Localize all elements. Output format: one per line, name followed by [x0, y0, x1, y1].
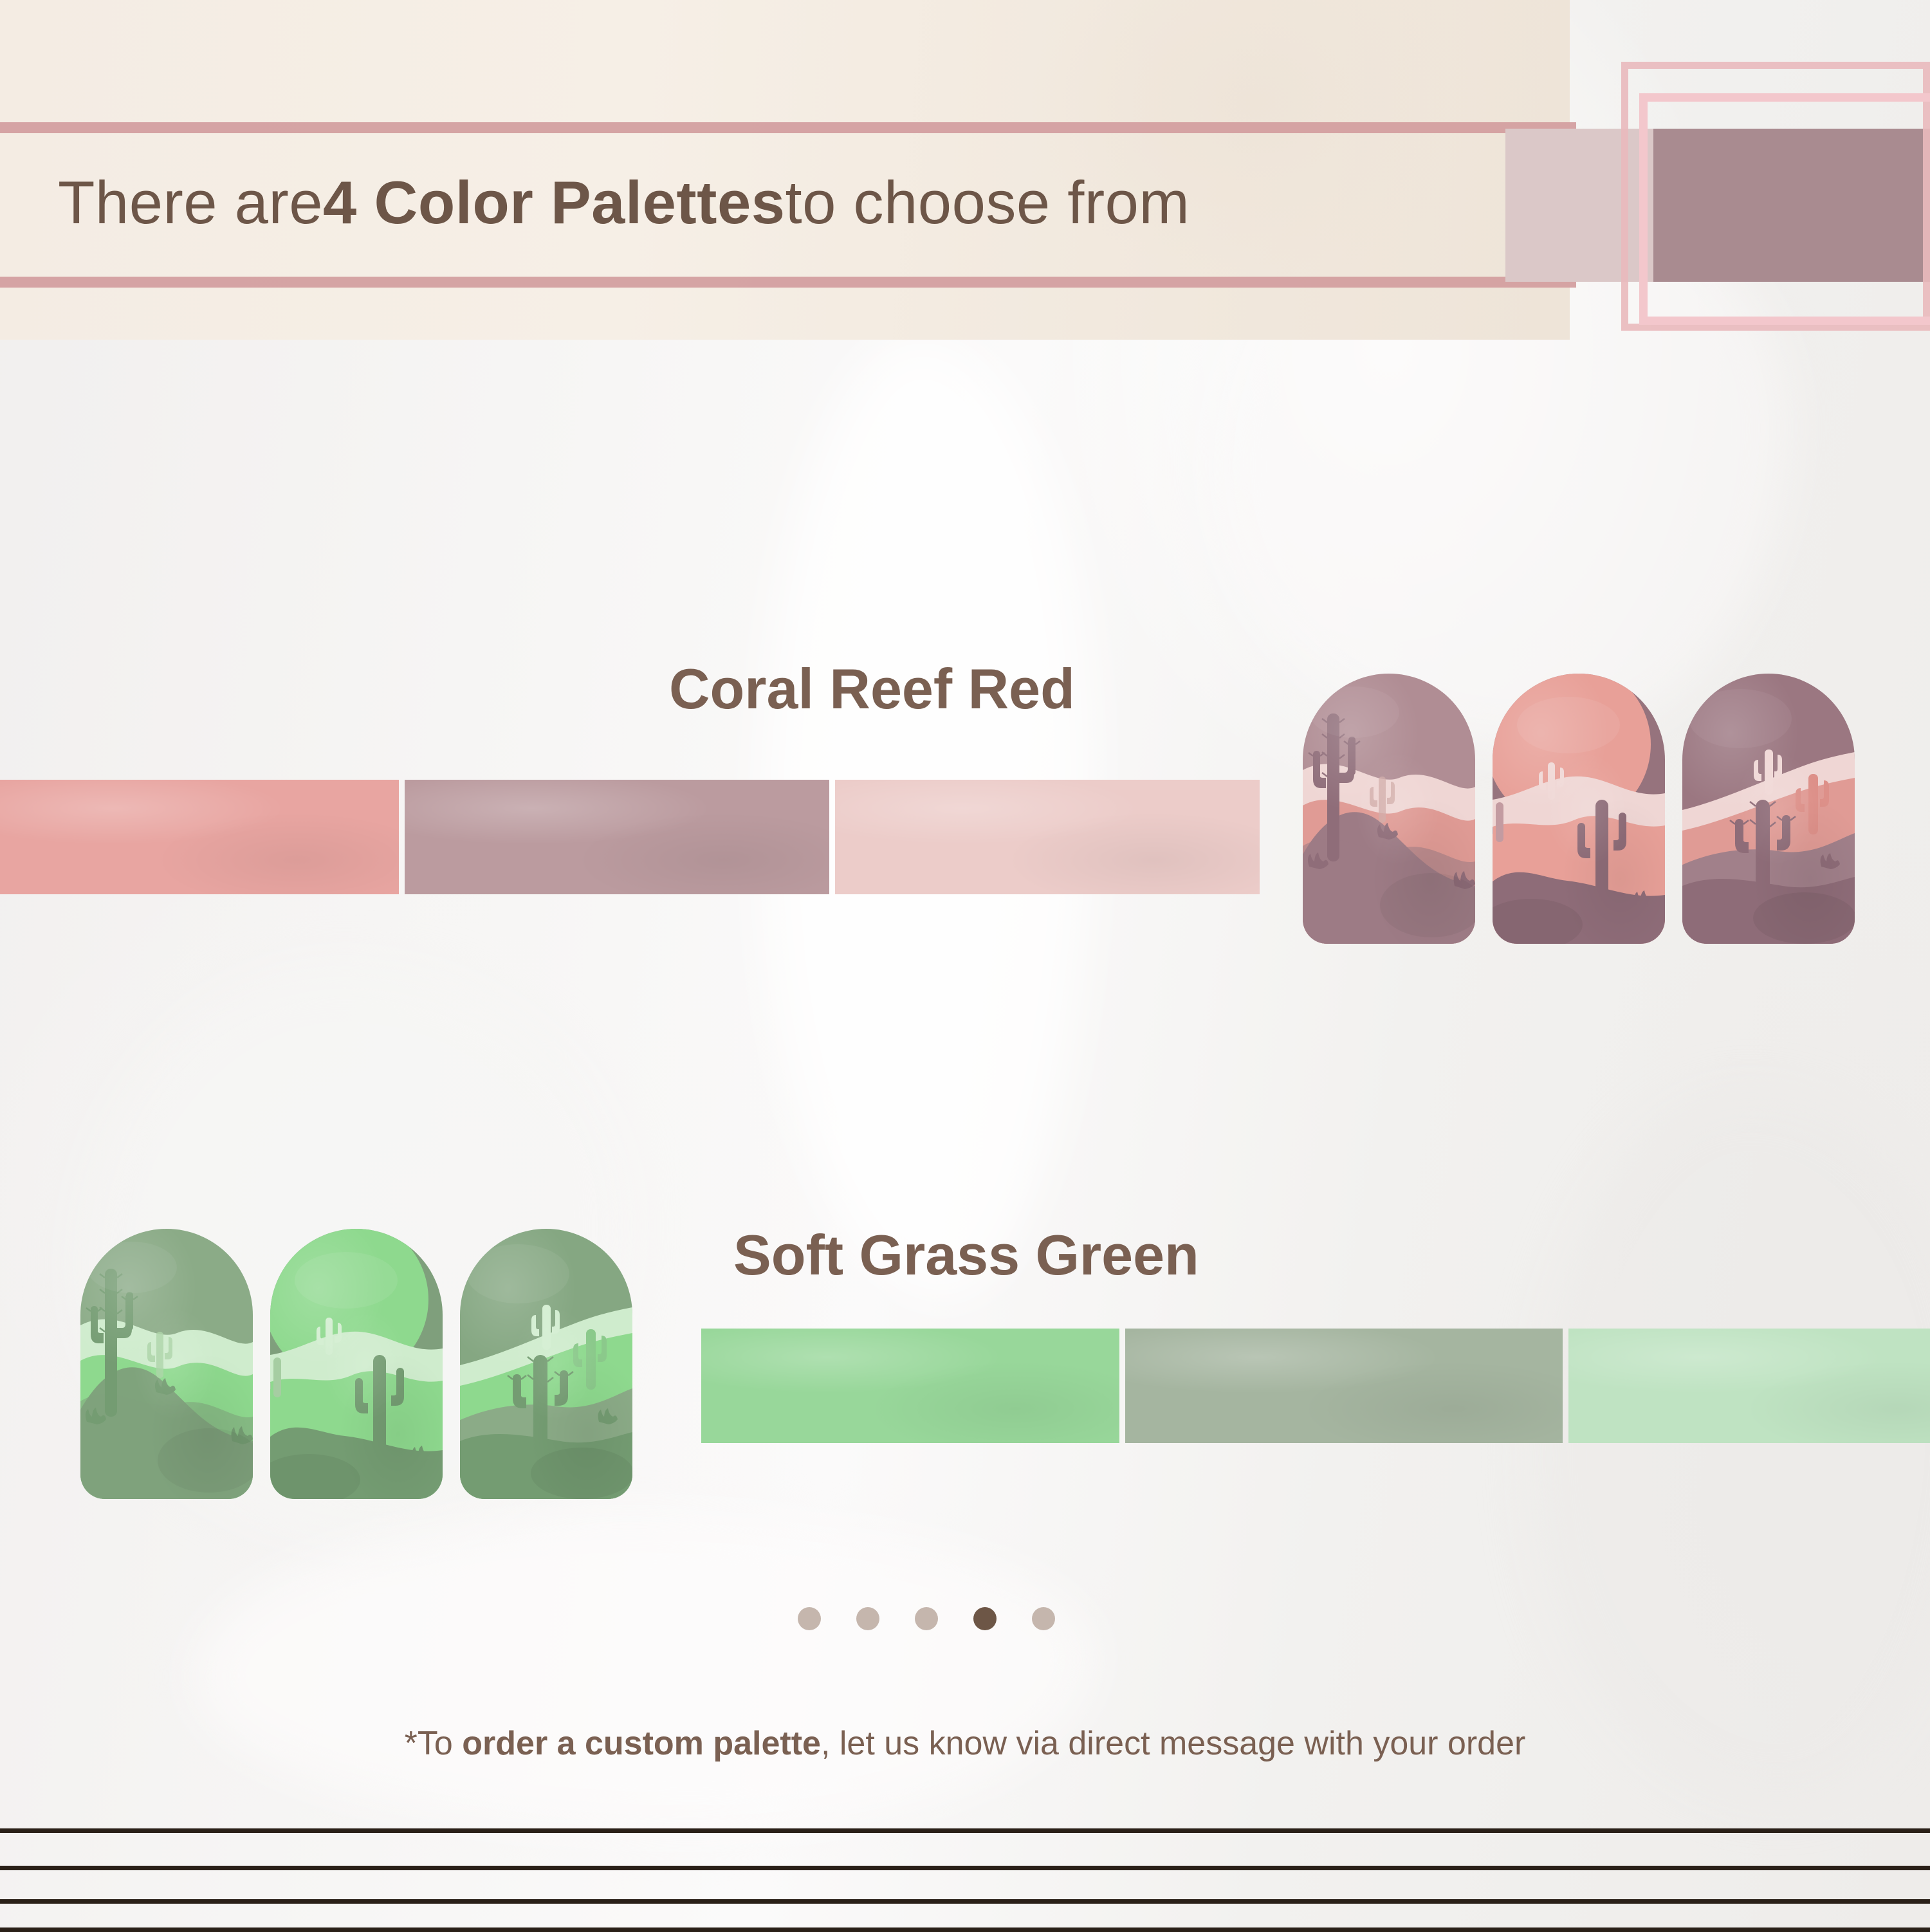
footer-bold: order a custom palette — [462, 1725, 821, 1762]
swatch-coral-2[interactable] — [405, 780, 829, 894]
swatch-coral-1[interactable] — [0, 780, 399, 894]
page-title-prefix: There are — [58, 168, 323, 237]
footer-rest: , let us know via direct message with yo… — [821, 1725, 1525, 1762]
nail-preview-green-2[interactable] — [270, 1229, 443, 1499]
nail-preview-green-1[interactable] — [80, 1229, 253, 1499]
nail-preview-set-coral — [1303, 674, 1855, 944]
pagination-dot-5[interactable] — [1032, 1607, 1055, 1630]
nail-preview-coral-1[interactable] — [1303, 674, 1475, 944]
nail-preview-green-3[interactable] — [460, 1229, 632, 1499]
pagination-dot-2[interactable] — [856, 1607, 879, 1630]
header-accent-line-top — [0, 122, 1576, 133]
page-title-highlight: 4 Color Palettes — [323, 168, 785, 237]
palette-title-coral: Coral Reef Red — [669, 656, 1075, 722]
nail-preview-set-green — [80, 1229, 632, 1499]
pagination-dot-1[interactable] — [798, 1607, 821, 1630]
swatch-green-1[interactable] — [701, 1329, 1119, 1443]
nail-preview-coral-3[interactable] — [1682, 674, 1855, 944]
swatch-row-coral — [0, 780, 1260, 894]
swatch-green-3[interactable] — [1568, 1329, 1930, 1443]
pagination-dot-3[interactable] — [915, 1607, 938, 1630]
footer-rule-2 — [0, 1866, 1930, 1870]
header-accent-line-bottom — [0, 277, 1576, 288]
pagination-dots — [798, 1607, 1055, 1630]
swatch-green-2[interactable] — [1125, 1329, 1563, 1443]
footer-rule-3 — [0, 1899, 1930, 1904]
background-blotch — [193, 1512, 1094, 1834]
footer-rule-1 — [0, 1828, 1930, 1833]
footer-note: *To order a custom palette, let us know … — [0, 1724, 1930, 1763]
swatch-coral-3[interactable] — [835, 780, 1260, 894]
footer-asterisk: *To — [405, 1725, 463, 1762]
page-title-suffix: to choose from — [786, 168, 1190, 237]
nail-preview-coral-2[interactable] — [1493, 674, 1665, 944]
palette-title-green: Soft Grass Green — [733, 1222, 1199, 1288]
pagination-dot-4-active[interactable] — [973, 1607, 997, 1630]
page-title: There are 4 Color Palettes to choose fro… — [0, 161, 1480, 244]
swatch-row-green — [701, 1329, 1930, 1443]
header-deco-outline-rect-inner — [1639, 93, 1930, 325]
background-blotch — [1531, 1094, 1930, 1801]
